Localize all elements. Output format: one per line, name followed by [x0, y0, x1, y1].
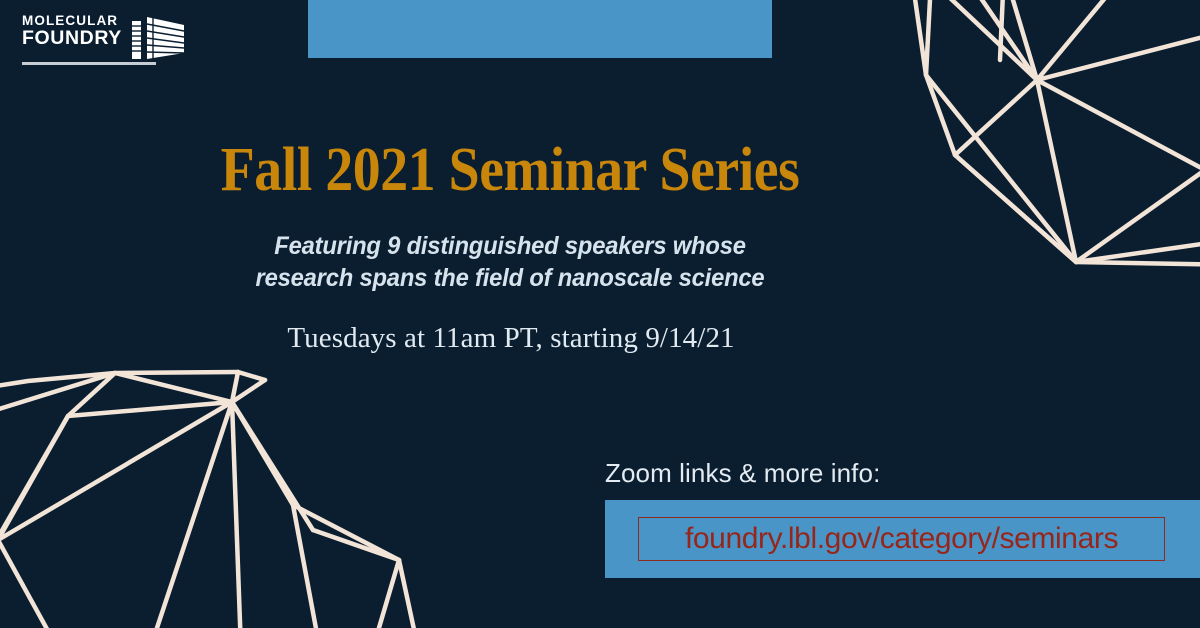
page-title: Fall 2021 Seminar Series	[51, 135, 969, 206]
logo-line-molecular: MOLECULAR	[22, 14, 122, 28]
top-accent-bar	[308, 0, 772, 58]
subtitle-line-1: Featuring 9 distinguished speakers whose	[26, 230, 995, 262]
subtitle-line-2: research spans the field of nanoscale sc…	[26, 262, 995, 294]
molecular-foundry-logo: MOLECULAR FOUNDRY	[22, 14, 174, 66]
logo-underline-rule	[22, 62, 156, 65]
logo-line-foundry: FOUNDRY	[22, 29, 122, 49]
seminars-url-link[interactable]: foundry.lbl.gov/category/seminars	[685, 522, 1118, 556]
url-box[interactable]: foundry.lbl.gov/category/seminars	[638, 517, 1165, 561]
seminar-poster: MOLECULAR FOUNDRY	[0, 0, 1200, 628]
subtitle: Featuring 9 distinguished speakers whose…	[26, 230, 995, 294]
schedule-text: Tuesdays at 11am PT, starting 9/14/21	[0, 322, 1022, 355]
cta-bar: foundry.lbl.gov/category/seminars	[605, 500, 1200, 578]
building-icon	[130, 14, 190, 62]
logo-wordmark: MOLECULAR FOUNDRY	[22, 14, 122, 48]
cta-label: Zoom links & more info:	[605, 458, 880, 489]
